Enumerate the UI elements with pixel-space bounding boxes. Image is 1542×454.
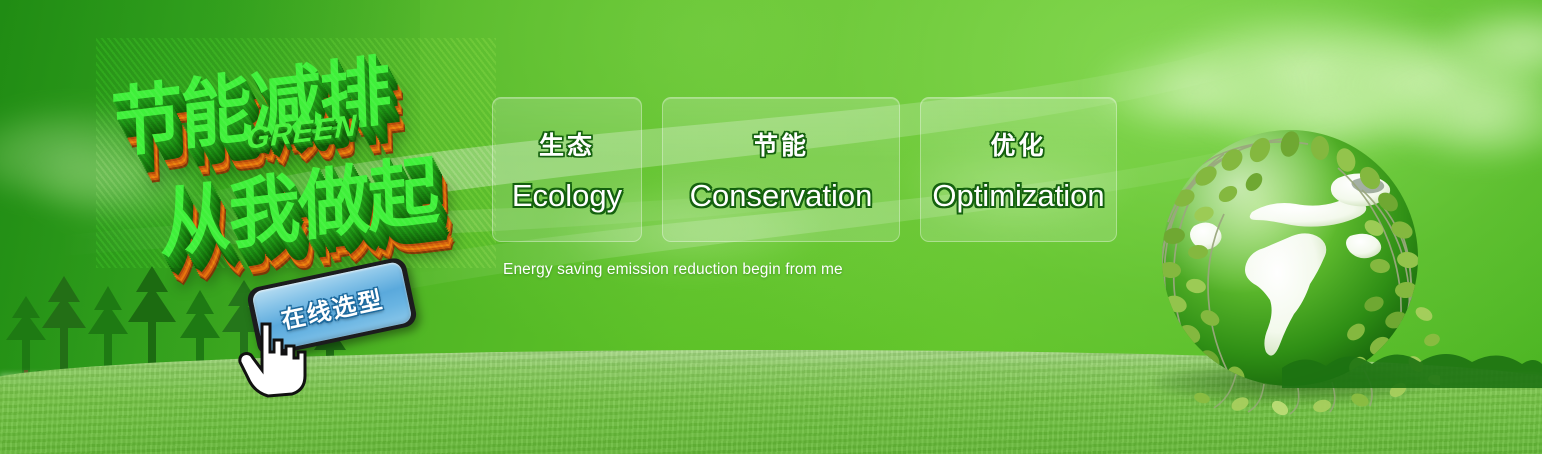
feature-card-title-en: Optimization xyxy=(932,178,1104,214)
feature-card-title-en: Ecology xyxy=(512,178,622,214)
feature-card-title-cn: 生态 xyxy=(539,126,595,162)
feature-card-title-cn: 优化 xyxy=(990,126,1046,162)
tagline-text: Energy saving emission reduction begin f… xyxy=(503,261,843,279)
hand-pointer-icon xyxy=(238,318,308,400)
feature-card-title-en: Conservation xyxy=(690,178,873,214)
feature-card-optimization[interactable]: 优化 Optimization xyxy=(920,97,1117,242)
promo-banner: 节能减排 从我做起 GREEN 在线选型 生态 Ecology 节能 Conse… xyxy=(0,0,1542,454)
feature-card-title-cn: 节能 xyxy=(753,126,809,162)
headline-3d-artwork: 节能减排 从我做起 GREEN xyxy=(96,38,496,268)
feature-card-ecology[interactable]: 生态 Ecology xyxy=(492,97,642,242)
feature-card-conservation[interactable]: 节能 Conservation xyxy=(662,97,900,242)
tree-icon xyxy=(1282,318,1542,388)
